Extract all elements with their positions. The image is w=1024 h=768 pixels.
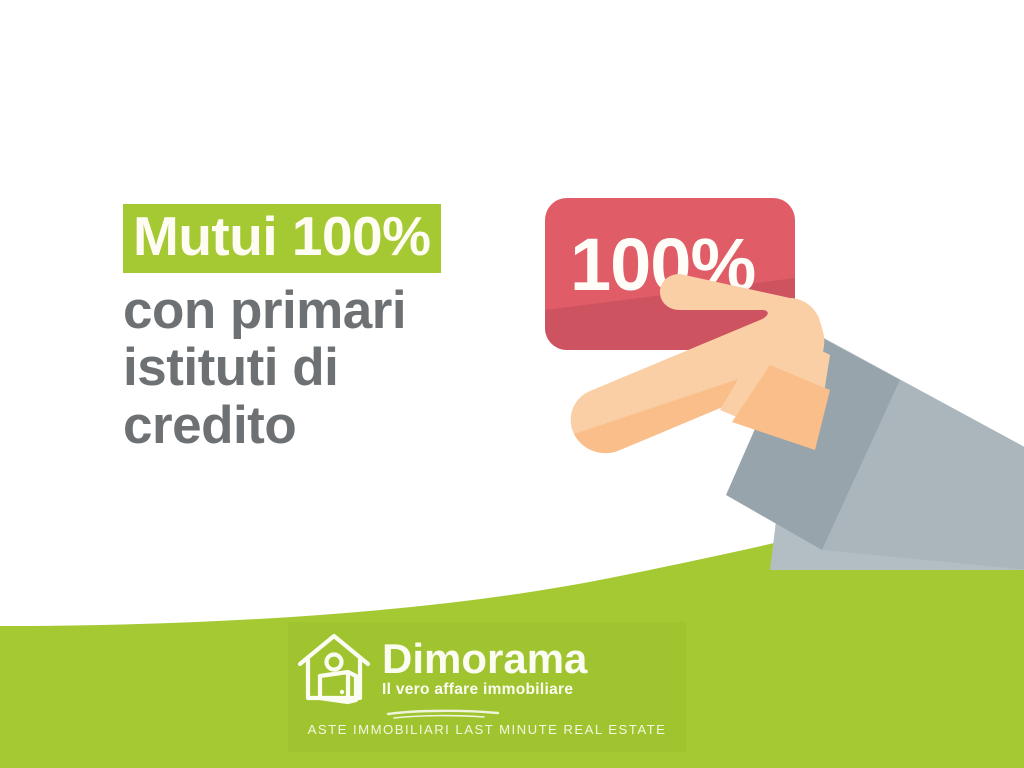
headline-highlight: Mutui 100% bbox=[123, 204, 441, 273]
brand-tagline: Il vero affare immobiliare bbox=[382, 680, 686, 700]
brand-name: Dimorama bbox=[382, 638, 686, 679]
brand-logo-row: Dimorama Il vero affare immobiliare bbox=[288, 628, 686, 710]
hand-holding-card-illustration: 100% bbox=[470, 150, 1024, 570]
underline-swoosh-icon bbox=[386, 708, 506, 720]
brand-subtitle: ASTE IMMOBILIARI LAST MINUTE REAL ESTATE bbox=[288, 722, 686, 737]
house-icon bbox=[288, 628, 380, 710]
banner-canvas: Mutui 100% con primari istituti di credi… bbox=[0, 0, 1024, 768]
brand-wordmark: Dimorama Il vero affare immobiliare bbox=[380, 638, 686, 700]
brand-logo-lockup[interactable]: Dimorama Il vero affare immobiliare ASTE… bbox=[288, 622, 686, 752]
